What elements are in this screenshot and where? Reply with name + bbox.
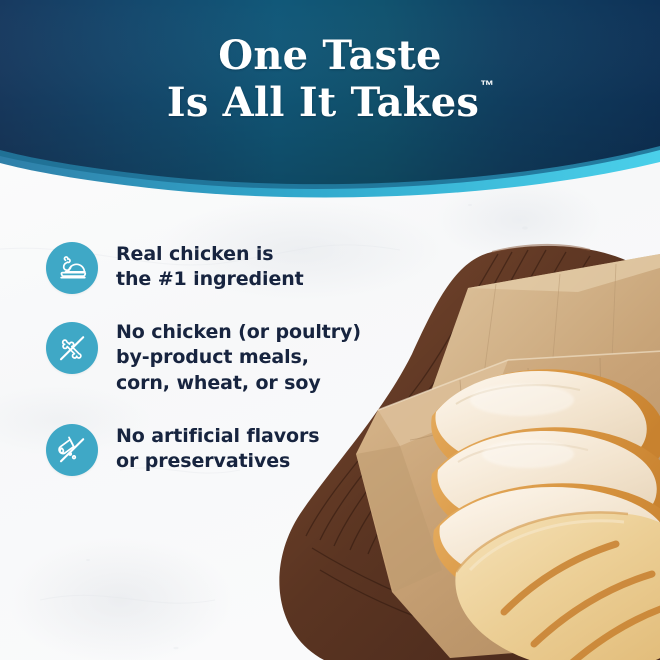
list-item-label: No artificial flavors or preservatives: [116, 422, 319, 475]
header-shadow-overlay: [0, 0, 660, 184]
list-item: Real chicken is the #1 ingredient: [46, 240, 406, 294]
list-item: No chicken (or poultry) by-product meals…: [46, 320, 406, 396]
roast-chicken-platter-icon: [46, 242, 98, 294]
promo-banner: One Taste Is All It Takes™: [0, 0, 660, 660]
no-bone-icon: [46, 322, 98, 374]
feature-list: Real chicken is the #1 ingredient No chi…: [46, 240, 406, 476]
list-item-label: No chicken (or poultry) by-product meals…: [116, 320, 361, 396]
list-item-label: Real chicken is the #1 ingredient: [116, 240, 304, 293]
list-item: No artificial flavors or preservatives: [46, 422, 406, 476]
header-wave-banner: [0, 0, 660, 210]
no-test-tube-icon: [46, 424, 98, 476]
